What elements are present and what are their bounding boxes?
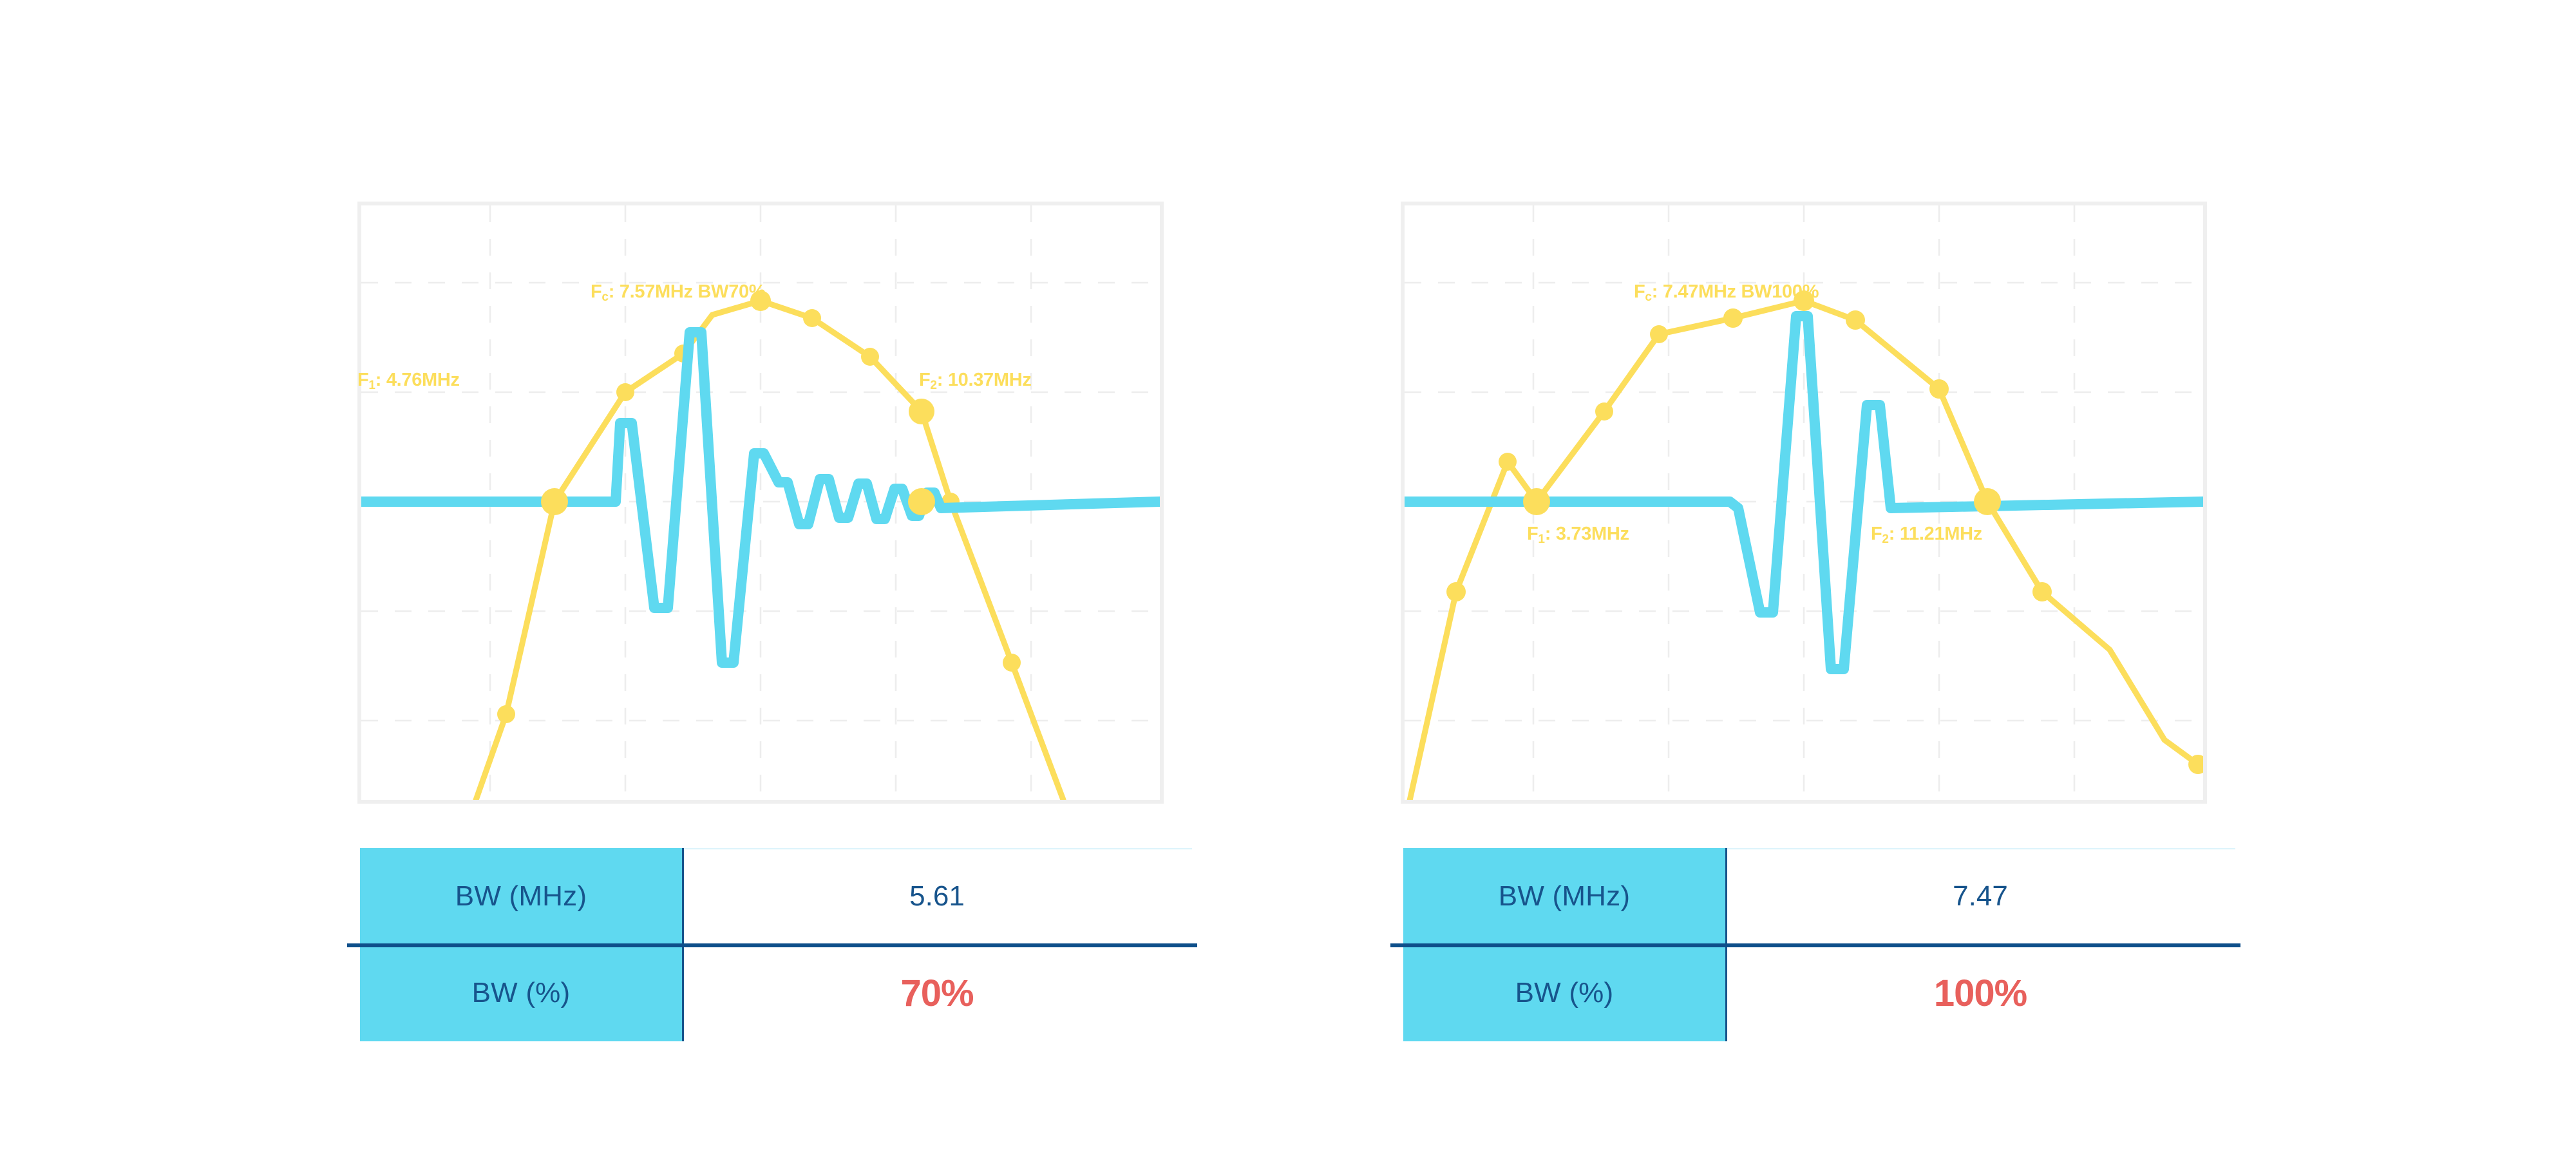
bw-pct-value-right: 100% [1934, 972, 2027, 1015]
f2-symbol: F [1871, 524, 1882, 544]
table-row: BW (MHz) 7.47 [1403, 848, 2235, 945]
bw-mhz-value-right: 7.47 [1953, 880, 2008, 913]
f1-value: : 4.76MHz [375, 370, 460, 390]
table-cell-bw-pct-right: 100% [1725, 945, 2235, 1041]
f2-subscript: 2 [930, 379, 936, 392]
center-frequency-label-right: Fc: 7.47MHz BW100% [1634, 283, 1819, 303]
f1-frequency-label-left: F1: 4.76MHz [357, 371, 460, 392]
spectrum-curve-right [1405, 301, 2198, 800]
measurement-panel-right: Fc: 7.47MHz BW100% F1: 3.73MHz F2: 11.21… [1327, 0, 2421, 1154]
f2-symbol: F [919, 370, 930, 390]
table-row-divider-left [347, 943, 1197, 947]
f2-value: : 11.21MHz [1889, 524, 1982, 544]
chart-frame-right: Fc: 7.47MHz BW100% F1: 3.73MHz F2: 11.21… [1401, 202, 2207, 804]
f2-frequency-label-right: F2: 11.21MHz [1871, 525, 1982, 545]
bandwidth-table-left: BW (MHz) 5.61 BW (%) 70% [360, 848, 1192, 1041]
fc-value: : 7.57MHz BW70% [609, 281, 766, 302]
fc-value: : 7.47MHz BW100% [1652, 281, 1819, 302]
table-header-bw-pct-left: BW (%) [360, 945, 682, 1041]
f1-symbol: F [357, 370, 368, 390]
bw-pct-value-left: 70% [900, 972, 973, 1015]
table-cell-bw-mhz-left: 5.61 [682, 848, 1192, 945]
f2-value: : 10.37MHz [937, 370, 1032, 390]
table-header-bw-pct-right: BW (%) [1403, 945, 1725, 1041]
fc-subscript: c [1645, 290, 1651, 304]
f2-node-left [908, 488, 935, 515]
fc-symbol: F [591, 281, 601, 302]
table-row: BW (MHz) 5.61 [360, 848, 1192, 945]
f1-value: : 3.73MHz [1545, 524, 1629, 544]
table-row: BW (%) 70% [360, 945, 1192, 1041]
table-row: BW (%) 100% [1403, 945, 2235, 1041]
table-row-divider-right [1390, 943, 2240, 947]
table-header-bw-mhz-left: BW (MHz) [360, 848, 682, 945]
f1-node-right [1523, 488, 1550, 515]
f2-subscript: 2 [1882, 533, 1888, 546]
fc-subscript: c [601, 290, 608, 304]
table-cell-bw-mhz-right: 7.47 [1725, 848, 2235, 945]
bw-mhz-value-left: 5.61 [909, 880, 965, 913]
fc-symbol: F [1634, 281, 1645, 302]
table-header-bw-mhz-right: BW (MHz) [1403, 848, 1725, 945]
f2-frequency-label-left: F2: 10.37MHz [919, 371, 1032, 392]
f1-subscript: 1 [1538, 533, 1544, 546]
f1-node-left [541, 488, 568, 515]
f1-subscript: 1 [368, 379, 375, 392]
bandwidth-table-right: BW (MHz) 7.47 BW (%) 100% [1403, 848, 2235, 1041]
chart-frame-left: Fc: 7.57MHz BW70% F1: 4.76MHz F2: 10.37M… [357, 202, 1164, 804]
table-cell-bw-pct-left: 70% [682, 945, 1192, 1041]
center-frequency-label-left: Fc: 7.57MHz BW70% [591, 283, 765, 303]
f2-node-right [1974, 488, 2001, 515]
f1-symbol: F [1527, 524, 1538, 544]
f1-frequency-label-right: F1: 3.73MHz [1527, 525, 1629, 545]
measurement-panel-left: Fc: 7.57MHz BW70% F1: 4.76MHz F2: 10.37M… [283, 0, 1378, 1154]
